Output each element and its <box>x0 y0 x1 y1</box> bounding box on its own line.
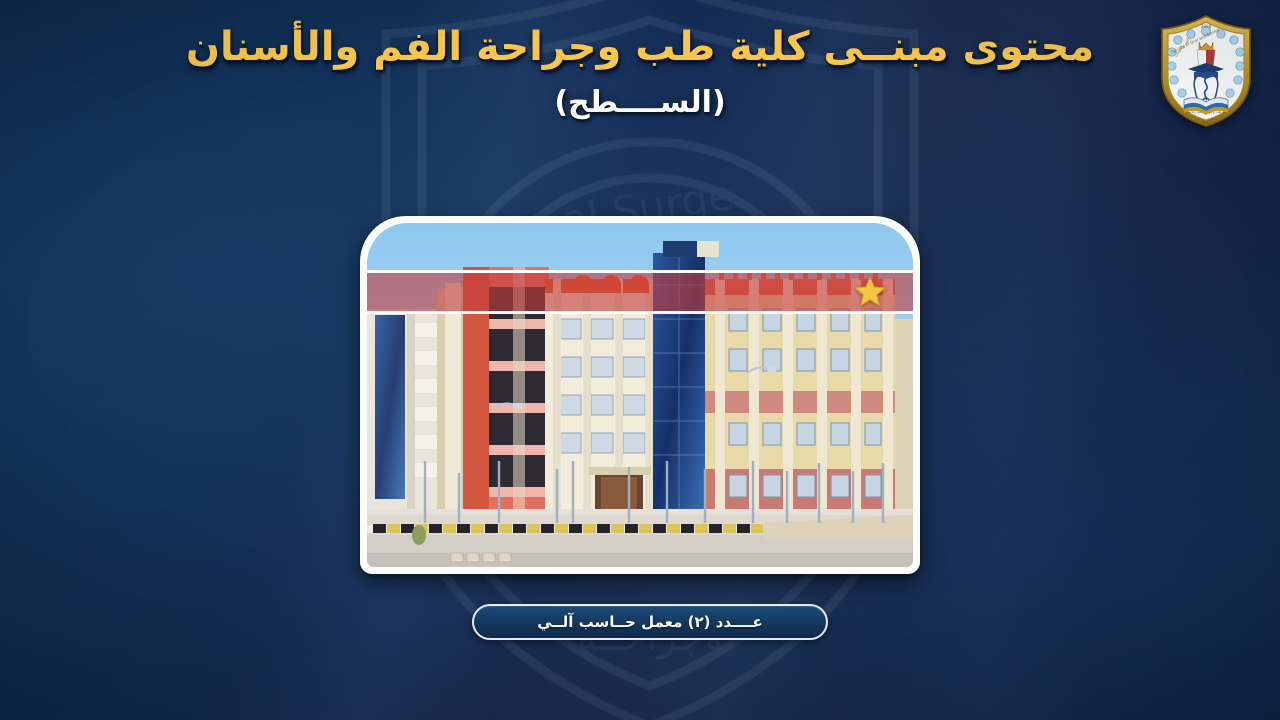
page-title: محتوى مبنــى كلية طب وجراحة الفم والأسنا… <box>0 24 1280 71</box>
svg-text:2008: 2008 <box>1201 24 1212 29</box>
caption-pill[interactable]: عــــدد (٢) معمل حــاسب آلــي <box>472 604 828 640</box>
slide-root: al Surge وجراحــة محتوى مبنــى كلية طب و… <box>0 0 1280 720</box>
faculty-crest-icon: 2008 2008 الفم والأسنان Faculty of Oral … <box>1150 12 1262 130</box>
svg-text:2008: 2008 <box>1201 121 1211 125</box>
photo-card <box>360 216 920 574</box>
faculty-building-photograph <box>367 223 913 567</box>
page-subtitle: (الســــطح) <box>0 85 1280 120</box>
caption-label: عــــدد (٢) معمل حــاسب آلــي <box>537 613 763 631</box>
slide-title-block: محتوى مبنــى كلية طب وجراحة الفم والأسنا… <box>0 24 1280 120</box>
